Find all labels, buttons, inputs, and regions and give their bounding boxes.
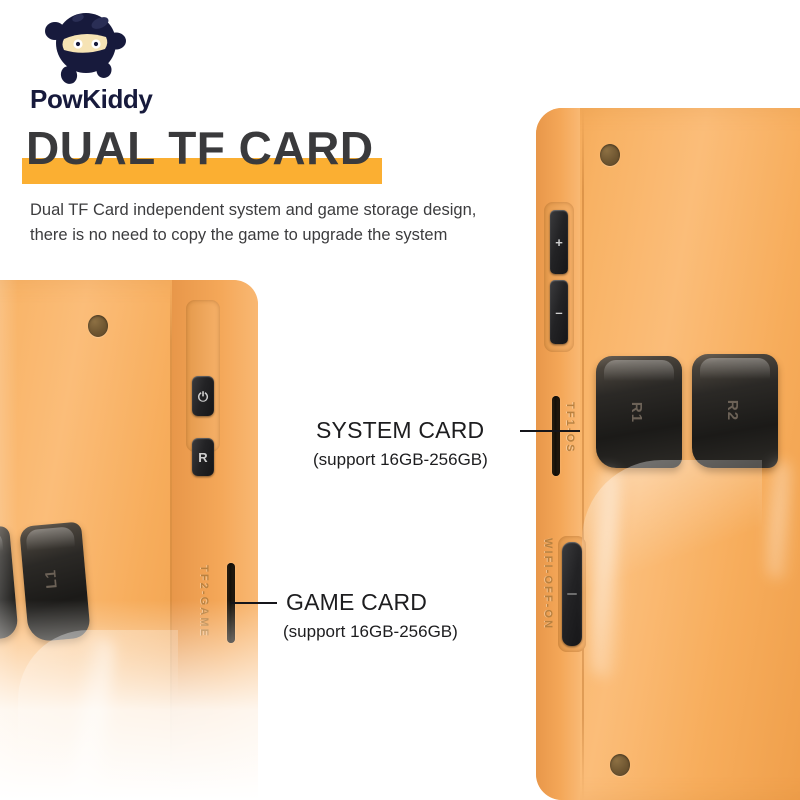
trigger-button-l1[interactable]: L1 (19, 522, 91, 643)
trigger-button-r1[interactable]: R1 (596, 356, 682, 468)
callout-title-game-card: GAME CARD (286, 589, 427, 616)
right-device-seam (582, 108, 584, 800)
trigger-label-r1: R1 (628, 402, 645, 423)
reset-button[interactable]: R (192, 438, 214, 476)
trigger-button-r2[interactable]: R2 (692, 354, 778, 468)
trigger-label-l1: L1 (42, 568, 61, 589)
handheld-console-left: ⏻ R TF2-GAME L2 L1 (0, 280, 258, 800)
ninja-mascot-icon (38, 6, 130, 84)
leader-line-game-card (231, 602, 277, 604)
reset-button-label: R (198, 451, 207, 464)
wifi-silkscreen: WIFI-OFF-ON (542, 538, 554, 630)
trigger-sheen (25, 526, 75, 560)
subtitle-line-2: there is no need to copy the game to upg… (30, 223, 570, 248)
subtitle-text: Dual TF Card independent system and game… (30, 198, 570, 248)
wifi-toggle-switch[interactable] (562, 542, 582, 646)
brand-logo: PowKiddy (30, 6, 220, 111)
trigger-label-r2: R2 (724, 400, 741, 421)
tf1-os-card-slot[interactable] (552, 396, 560, 476)
headline-block: DUAL TF CARD (26, 122, 374, 178)
toggle-grip-line (567, 593, 577, 595)
minus-icon: – (555, 306, 562, 319)
callout-title-system-card: SYSTEM CARD (316, 417, 484, 444)
volume-down-button[interactable]: – (550, 280, 568, 344)
screw-hole (600, 144, 620, 166)
tf1-os-silkscreen: TF1-OS (564, 402, 576, 454)
tf2-game-silkscreen: TF2-GAME (198, 565, 210, 638)
brand-name: PowKiddy (30, 84, 152, 115)
callout-support-system-card: (support 16GB-256GB) (313, 450, 488, 470)
screw-hole (88, 315, 108, 337)
trigger-sheen (700, 358, 770, 388)
product-infographic: ⏻ R TF2-GAME L2 L1 (0, 0, 800, 800)
trigger-sheen (604, 360, 674, 390)
leader-line-system-card (520, 430, 580, 432)
power-button[interactable]: ⏻ (192, 376, 214, 416)
trigger-sheen (0, 530, 4, 564)
handheld-console-right: + – TF1-OS WIFI-OFF-ON R1 R2 (536, 108, 800, 800)
screw-hole (610, 754, 630, 776)
subtitle-line-1: Dual TF Card independent system and game… (30, 198, 570, 223)
page-title: DUAL TF CARD (26, 122, 374, 174)
callout-support-game-card: (support 16GB-256GB) (283, 622, 458, 642)
power-icon: ⏻ (198, 390, 208, 403)
